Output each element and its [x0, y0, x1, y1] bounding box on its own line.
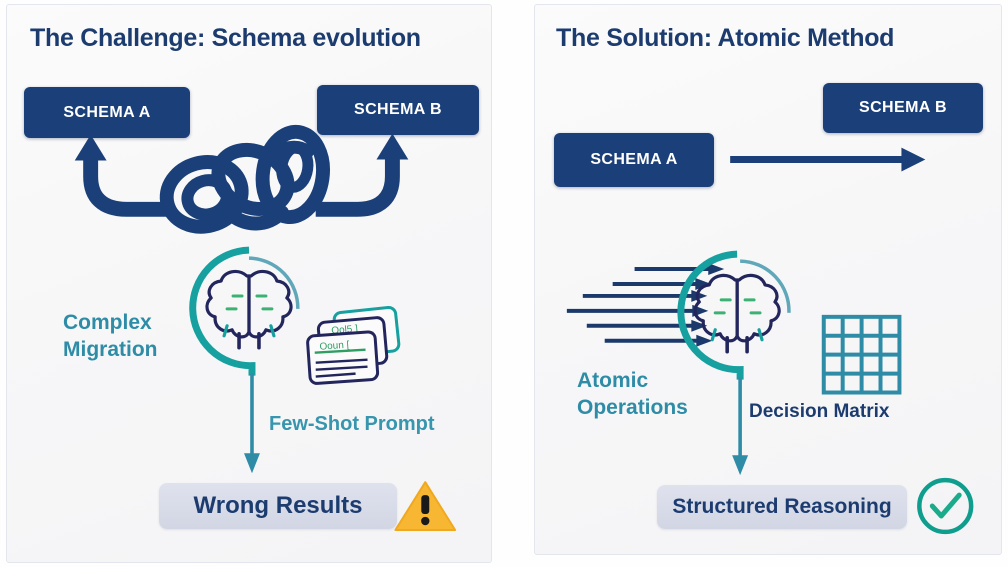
- tangled-knot-arrows-icon: [75, 128, 409, 235]
- brain-icon: [207, 271, 291, 347]
- wrong-results-pill: Wrong Results: [159, 483, 397, 529]
- schema-a-badge-right[interactable]: SCHEMA A: [554, 133, 714, 187]
- structured-reasoning-label: Structured Reasoning: [672, 495, 891, 519]
- structured-reasoning-pill: Structured Reasoning: [657, 485, 907, 529]
- diagram-canvas: The Challenge: Schema evolution SCHEMA A…: [0, 0, 1008, 567]
- schema-a-badge-left[interactable]: SCHEMA A: [24, 87, 190, 138]
- warning-triangle-icon: [395, 482, 455, 530]
- wrong-results-label: Wrong Results: [194, 492, 363, 520]
- straight-arrow-right-icon: [730, 148, 925, 172]
- schema-a-badge-right-label: SCHEMA A: [590, 151, 677, 169]
- atomic-operations-label: Atomic Operations: [577, 368, 688, 422]
- page-title-challenge: The Challenge: Schema evolution: [30, 24, 421, 53]
- few-shot-prompt-label: Few-Shot Prompt: [269, 412, 435, 438]
- schema-b-badge-left-label: SCHEMA B: [354, 101, 442, 119]
- page-title-solution: The Solution: Atomic Method: [556, 24, 894, 53]
- check-circle-icon: [919, 480, 971, 532]
- result-flow-arrow: [244, 374, 260, 474]
- svg-text:Ool5 ]: Ool5 ]: [331, 323, 359, 336]
- decision-matrix-grid-icon: [824, 317, 900, 393]
- result-flow-arrow: [732, 378, 748, 476]
- svg-text:Ooun [: Ooun [: [319, 340, 350, 353]
- brain-circle-arc: [193, 250, 298, 375]
- challenge-panel: The Challenge: Schema evolution SCHEMA A…: [6, 4, 492, 563]
- parallel-arrows-icon: [567, 263, 724, 347]
- prompt-cards-icon: Ool5 ] Ooun [: [307, 307, 399, 384]
- brain-icon: [695, 275, 779, 351]
- schema-a-badge-left-label: SCHEMA A: [63, 104, 150, 122]
- solution-panel: The Solution: Atomic Method SCHEMA B SCH…: [534, 4, 1002, 555]
- complex-migration-label: Complex Migration: [63, 310, 158, 364]
- brain-circle-arc: [681, 254, 789, 379]
- decision-matrix-label: Decision Matrix: [749, 401, 889, 423]
- schema-b-badge-right-label: SCHEMA B: [859, 99, 947, 117]
- schema-b-badge-right[interactable]: SCHEMA B: [823, 83, 983, 133]
- schema-b-badge-left[interactable]: SCHEMA B: [317, 85, 479, 135]
